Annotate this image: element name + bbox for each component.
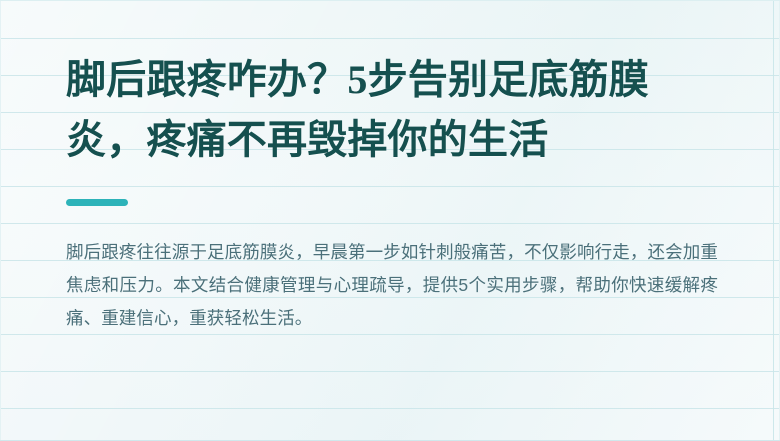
content-column: 脚后跟疼咋办？5步告别足底筋膜炎，疼痛不再毁掉你的生活 脚后跟疼往往源于足底筋膜… (66, 0, 726, 441)
title-accent-divider (66, 199, 128, 206)
background-vertical-rule (773, 0, 774, 441)
article-card: 脚后跟疼咋办？5步告别足底筋膜炎，疼痛不再毁掉你的生活 脚后跟疼往往源于足底筋膜… (0, 0, 780, 441)
article-summary: 脚后跟疼往往源于足底筋膜炎，早晨第一步如针刺般痛苦，不仅影响行走，还会加重焦虑和… (66, 236, 718, 335)
page-title: 脚后跟疼咋办？5步告别足底筋膜炎，疼痛不再毁掉你的生活 (66, 50, 706, 170)
